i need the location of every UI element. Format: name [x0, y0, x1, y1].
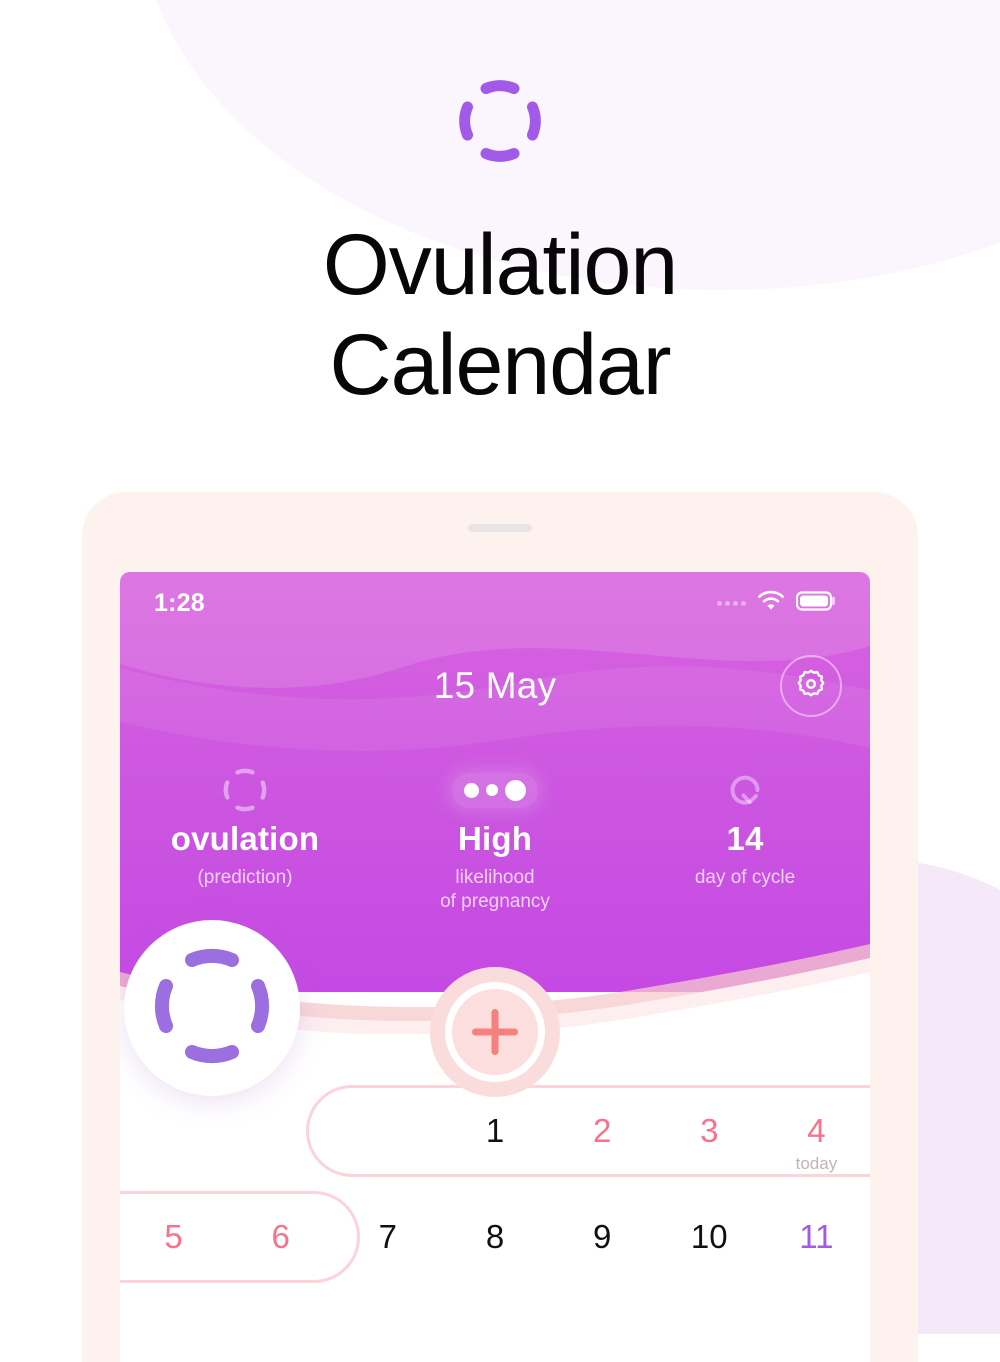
calendar-day[interactable]: 5 [120, 1218, 227, 1256]
add-entry-inner [445, 982, 545, 1082]
calendar-day[interactable]: 1 [441, 1112, 548, 1150]
calendar-day[interactable]: 11 [763, 1218, 870, 1256]
stat-likelihood-sub1: likelihood [455, 867, 534, 888]
gear-icon [796, 669, 826, 704]
stats-row: ovulation (prediction) High likelihood o… [120, 764, 870, 914]
phone-side-button-mute [82, 588, 86, 624]
stat-ovulation-sub: (prediction) [120, 866, 370, 890]
battery-icon [796, 591, 836, 616]
calendar-strip: 1 2 3 4today 5 6 7 8 9 10 11 [120, 1078, 870, 1290]
plus-icon [472, 1009, 518, 1055]
calendar-day[interactable]: 9 [549, 1218, 656, 1256]
app-header-bar: 15 May [120, 644, 870, 728]
status-icons [717, 590, 836, 616]
calendar-day[interactable]: 7 [334, 1218, 441, 1256]
stat-ovulation-value: ovulation [120, 820, 370, 858]
phone-side-button-volume-up [82, 664, 86, 730]
app-logo [0, 78, 1000, 164]
add-entry-button[interactable] [430, 967, 560, 1097]
calendar-row: 5 6 7 8 9 10 11 [120, 1184, 870, 1290]
calendar-day[interactable]: 8 [441, 1218, 548, 1256]
today-label: today [763, 1154, 870, 1174]
page-title-line1: Ovulation [0, 216, 1000, 316]
three-dots-icon [452, 773, 538, 808]
settings-button[interactable] [780, 655, 842, 717]
app-screen: 1:28 [120, 572, 870, 1362]
stat-cycle-day[interactable]: 14 day of cycle [620, 764, 870, 914]
cycle-refresh-icon [620, 764, 870, 816]
calendar-day[interactable]: 10 [656, 1218, 763, 1256]
ovulation-badge[interactable] [124, 920, 300, 1096]
dashed-circle-icon [120, 764, 370, 816]
wifi-icon [757, 590, 785, 616]
stat-likelihood-sub2: of pregnancy [440, 891, 550, 912]
dashed-circle-badge-icon [154, 948, 270, 1069]
stat-cycle-day-value: 14 [620, 820, 870, 858]
stat-ovulation[interactable]: ovulation (prediction) [120, 764, 370, 914]
calendar-day[interactable]: 6 [227, 1218, 334, 1256]
stat-likelihood[interactable]: High likelihood of pregnancy [370, 764, 620, 914]
status-time: 1:28 [154, 589, 205, 618]
current-date: 15 May [434, 665, 557, 707]
page-title-line2: Calendar [0, 316, 1000, 416]
stat-likelihood-sub: likelihood of pregnancy [370, 866, 620, 914]
calendar-day[interactable]: 2 [549, 1112, 656, 1150]
stat-cycle-day-sub: day of cycle [620, 866, 870, 890]
phone-mockup: 1:28 [82, 492, 918, 1362]
page-title: Ovulation Calendar [0, 216, 1000, 416]
phone-speaker [468, 524, 532, 532]
status-bar: 1:28 [120, 572, 870, 634]
calendar-day-today[interactable]: 4today [763, 1112, 870, 1150]
calendar-day[interactable]: 3 [656, 1112, 763, 1150]
dashed-circle-logo-icon [457, 78, 543, 164]
signal-dots-icon [717, 601, 746, 606]
phone-side-button-volume-down [82, 748, 86, 814]
stat-likelihood-value: High [370, 820, 620, 858]
